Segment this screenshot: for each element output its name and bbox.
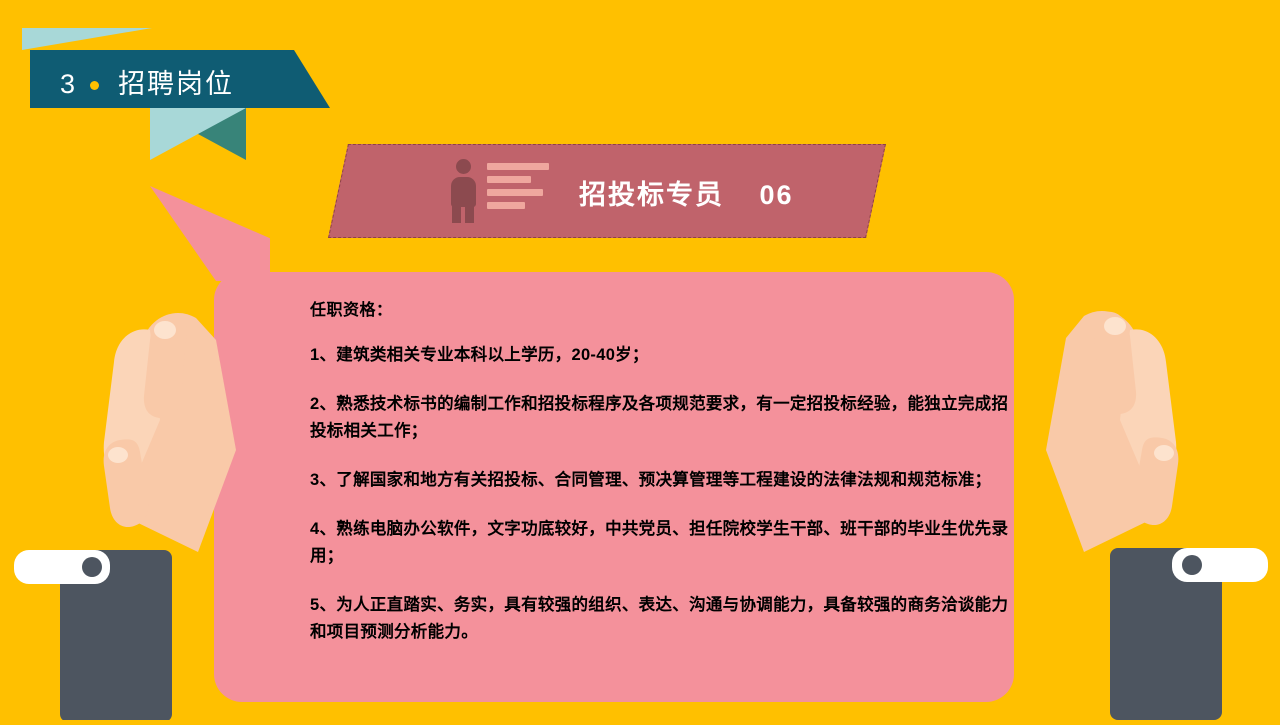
- requirement-item-1: 1、建筑类相关专业本科以上学历，20-40岁；: [310, 342, 1022, 369]
- document-line: [487, 189, 543, 196]
- person-leg-right-shape: [465, 205, 474, 223]
- document-lines-icon: [487, 163, 549, 215]
- bubble-tail: [150, 186, 270, 281]
- section-header-ribbon: 3 招聘岗位: [0, 0, 360, 180]
- ribbon-accent-top: [22, 28, 152, 50]
- requirement-item-2: 2、熟悉技术标书的编制工作和招投标程序及各项规范要求，有一定招投标经验，能独立完…: [310, 391, 1022, 445]
- person-head-shape: [456, 159, 471, 174]
- person-body-shape: [451, 177, 476, 207]
- requirements-content: 任职资格： 1、建筑类相关专业本科以上学历，20-40岁； 2、熟悉技术标书的编…: [310, 284, 1022, 646]
- bullet-dot-icon: [90, 81, 99, 90]
- person-leg-left-shape: [452, 205, 461, 223]
- requirement-item-5: 5、为人正直踏实、务实，具有较强的组织、表达、沟通与协调能力，具备较强的商务洽谈…: [310, 592, 1022, 646]
- right-hand-illustration: [980, 290, 1280, 720]
- left-hand-illustration: [0, 300, 300, 720]
- job-title: 招投标专员: [579, 180, 724, 210]
- requirements-bubble: 任职资格： 1、建筑类相关专业本科以上学历，20-40岁； 2、熟悉技术标书的编…: [214, 272, 1014, 702]
- job-title-text-group: 招投标专员 06: [579, 173, 794, 212]
- section-header-label: 3 招聘岗位: [60, 62, 234, 101]
- requirement-item-3: 3、了解国家和地方有关招投标、合同管理、预决算管理等工程建设的法律法规和规范标准…: [310, 467, 1022, 494]
- section-number: 3: [60, 69, 77, 99]
- job-title-banner-inner: 招投标专员 06: [339, 145, 875, 237]
- left-hand-svg: [0, 300, 300, 720]
- section-title: 招聘岗位: [118, 69, 234, 99]
- requirement-item-4: 4、熟练电脑办公软件，文字功底较好，中共党员、担任院校学生干部、班干部的毕业生优…: [310, 516, 1022, 570]
- job-number: 06: [760, 180, 794, 210]
- ribbon-fold-light: [150, 108, 246, 160]
- document-line: [487, 202, 525, 209]
- requirements-heading: 任职资格：: [310, 296, 1022, 320]
- job-title-banner: 招投标专员 06: [328, 144, 886, 238]
- document-line: [487, 163, 549, 170]
- right-hand-svg: [980, 290, 1280, 720]
- person-icon: [449, 159, 477, 223]
- document-line: [487, 176, 531, 183]
